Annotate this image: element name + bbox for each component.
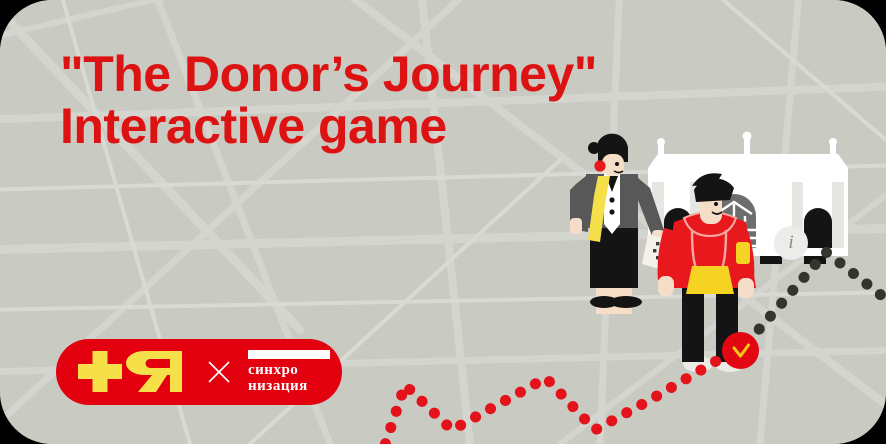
partner-logo: синхро низация [248,350,330,395]
checkpoint-badge[interactable] [722,332,759,369]
partner-logo-text: синхро низация [248,363,308,395]
promo-banner: "The Donor’s Journey" Interactive game [0,0,886,444]
partner-logo-bar [248,350,330,359]
logo-lockup[interactable]: синхро низация [56,339,342,405]
info-icon[interactable]: i [774,226,808,260]
cross-separator-icon [206,359,232,385]
plus-ya-logo-icon [78,351,186,393]
illustration-scene [540,130,886,380]
